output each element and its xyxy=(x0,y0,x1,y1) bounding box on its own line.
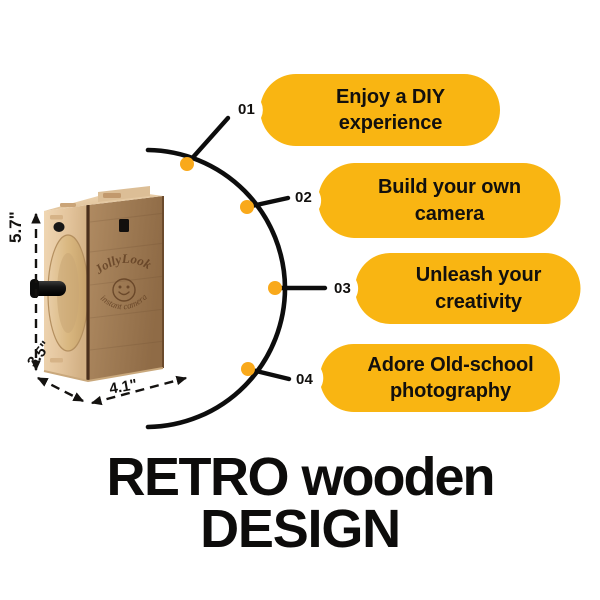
svg-text:JollyLook: JollyLook xyxy=(91,251,154,278)
feature-pill-04[interactable]: Adore Old-school photography xyxy=(321,344,560,412)
feature-pill-03[interactable]: Unleash your creativity xyxy=(356,253,581,324)
width-dimension-label: 4.1" xyxy=(108,376,138,398)
depth-dimension-label: 3.5" xyxy=(24,338,55,371)
page-title: RETRO wooden DESIGN xyxy=(0,452,600,556)
headline-word-retro: RETRO xyxy=(107,447,289,507)
node-dot-01 xyxy=(180,157,194,171)
feature-text-04: Adore Old-school photography xyxy=(333,352,547,405)
height-dimension-label: 5.7" xyxy=(6,211,26,243)
camera-side-panel xyxy=(44,205,88,381)
camera-crank-knob xyxy=(30,279,66,298)
camera-front-panel xyxy=(88,196,165,381)
arc-path xyxy=(148,150,285,427)
depth-dimension-line xyxy=(38,378,83,401)
step-number-03: 03 xyxy=(334,280,351,297)
feature-pill-01[interactable]: Enjoy a DIY experience xyxy=(261,74,500,146)
svg-text:instant camera: instant camera xyxy=(99,291,150,311)
brand-logo: JollyLook instant camera xyxy=(91,251,154,312)
step-number-02: 02 xyxy=(295,189,312,206)
node-dot-03 xyxy=(268,281,282,295)
headline-word-wooden: wooden xyxy=(302,447,494,507)
camera-top-panel xyxy=(44,186,163,211)
feature-text-03: Unleash your creativity xyxy=(382,262,556,315)
node-dot-02 xyxy=(240,200,254,214)
step-number-01: 01 xyxy=(238,101,255,118)
leader-line-01 xyxy=(187,118,228,164)
node-dot-04 xyxy=(241,362,255,376)
feature-pill-02[interactable]: Build your own camera xyxy=(319,163,560,238)
headline-word-design: DESIGN xyxy=(0,503,600,556)
infographic-canvas: JollyLook instant camera 5.7" 3.5" 4.1" xyxy=(0,0,600,600)
feature-text-02: Build your own camera xyxy=(344,174,535,227)
leader-line-02 xyxy=(247,198,288,207)
feature-text-01: Enjoy a DIY experience xyxy=(302,84,459,137)
width-dimension-line xyxy=(92,378,186,403)
step-number-04: 04 xyxy=(296,371,313,388)
leader-line-04 xyxy=(248,369,289,379)
